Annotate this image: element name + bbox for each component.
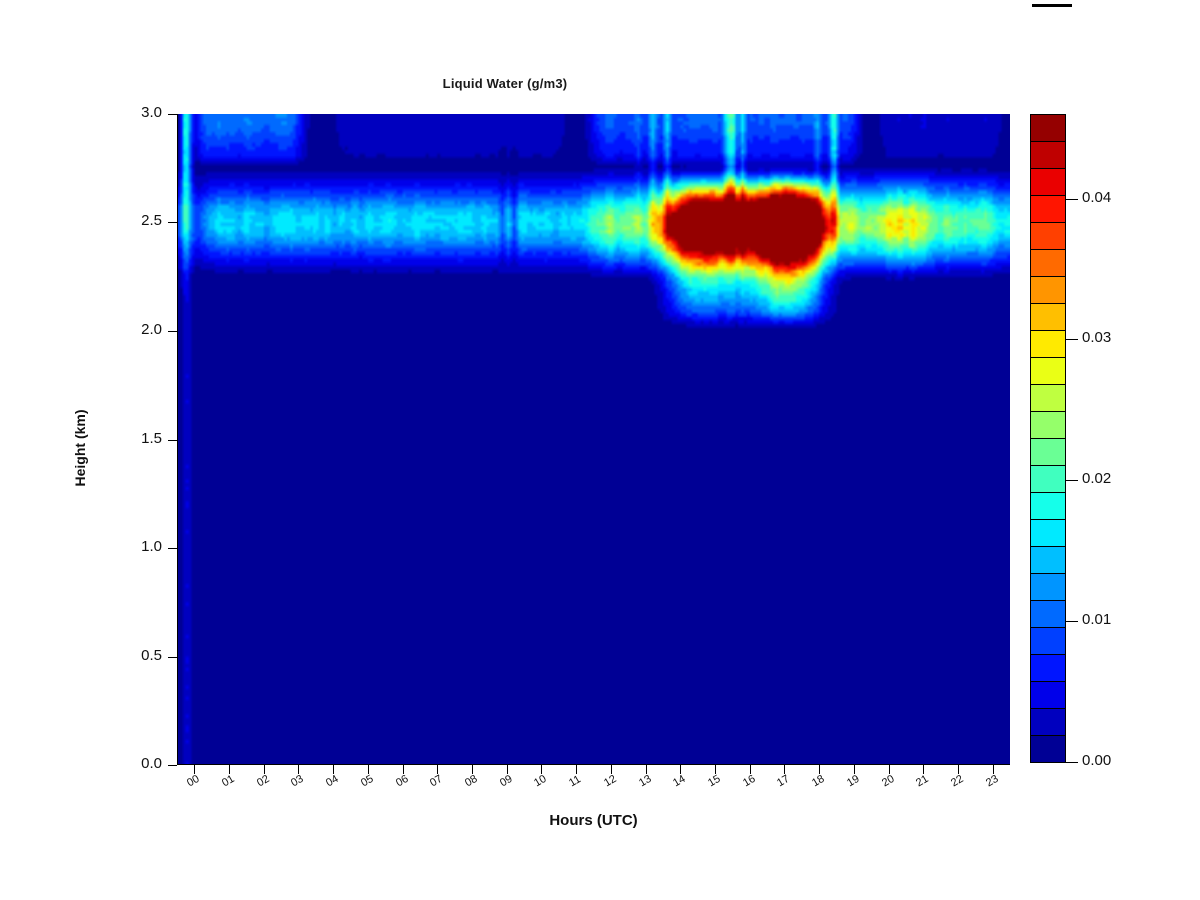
colorbar-tick-mark bbox=[1066, 199, 1078, 200]
colorbar-band bbox=[1030, 384, 1066, 412]
x-tick-label: 08 bbox=[463, 773, 480, 790]
y-tick-mark bbox=[168, 657, 177, 658]
colorbar-band bbox=[1030, 357, 1066, 385]
y-tick-label: 0.5 bbox=[141, 647, 162, 664]
x-tick-label: 02 bbox=[255, 773, 272, 790]
colorbar-tick-label: 0.02 bbox=[1082, 470, 1111, 487]
y-tick-label: 2.5 bbox=[141, 212, 162, 229]
x-tick-label: 10 bbox=[532, 773, 549, 790]
x-tick-label: 03 bbox=[289, 773, 306, 790]
colorbar-band bbox=[1030, 276, 1066, 304]
heatmap-plot-area bbox=[177, 114, 1010, 765]
colorbar-band bbox=[1030, 708, 1066, 736]
colorbar-band bbox=[1030, 330, 1066, 358]
y-tick-mark bbox=[168, 440, 177, 441]
y-tick-mark bbox=[168, 765, 177, 766]
x-tick-label: 04 bbox=[324, 773, 341, 790]
x-axis-title: Hours (UTC) bbox=[177, 812, 1010, 829]
colorbar-tick-label: 0.03 bbox=[1082, 329, 1111, 346]
y-tick-label: 1.5 bbox=[141, 430, 162, 447]
x-tick-label: 12 bbox=[602, 773, 619, 790]
y-tick-mark bbox=[168, 114, 177, 115]
y-tick-mark bbox=[168, 331, 177, 332]
y-tick-mark bbox=[168, 222, 177, 223]
colorbar-band bbox=[1030, 411, 1066, 439]
page-title: Liquid Water (g/m3) bbox=[0, 76, 1010, 91]
x-tick-label: 21 bbox=[914, 773, 931, 790]
colorbar-band bbox=[1030, 465, 1066, 493]
colorbar-band bbox=[1030, 249, 1066, 277]
x-tick-label: 17 bbox=[775, 773, 792, 790]
x-tick-label: 16 bbox=[741, 773, 758, 790]
colorbar-band bbox=[1030, 438, 1066, 466]
colorbar-band bbox=[1030, 546, 1066, 574]
x-tick-label: 14 bbox=[671, 773, 688, 790]
y-tick-label: 0.0 bbox=[141, 755, 162, 772]
x-tick-label: 01 bbox=[220, 773, 237, 790]
colorbar-band bbox=[1030, 654, 1066, 682]
colorbar-band bbox=[1030, 681, 1066, 709]
y-tick-label: 1.0 bbox=[141, 538, 162, 555]
x-tick-label: 20 bbox=[880, 773, 897, 790]
colorbar-tick-label: 0.04 bbox=[1082, 189, 1111, 206]
y-tick-label: 3.0 bbox=[141, 104, 162, 121]
y-tick-mark bbox=[168, 548, 177, 549]
colorbar-tick-mark bbox=[1066, 762, 1078, 763]
y-tick-label: 2.0 bbox=[141, 321, 162, 338]
colorbar-tick-label: 0.00 bbox=[1082, 752, 1111, 769]
colorbar bbox=[1030, 114, 1066, 762]
colorbar-tick-mark bbox=[1066, 339, 1078, 340]
colorbar-band bbox=[1030, 735, 1066, 763]
figure-canvas: Liquid Water (g/m3) Height (km) Hours (U… bbox=[0, 0, 1200, 900]
colorbar-tick-mark bbox=[1066, 621, 1078, 622]
x-tick-label: 18 bbox=[810, 773, 827, 790]
colorbar-band bbox=[1030, 114, 1066, 142]
x-tick-label: 13 bbox=[637, 773, 654, 790]
colorbar-band bbox=[1030, 573, 1066, 601]
colorbar-band bbox=[1030, 303, 1066, 331]
x-tick-label: 05 bbox=[359, 773, 376, 790]
y-axis-title: Height (km) bbox=[72, 358, 88, 538]
x-tick-label: 22 bbox=[949, 773, 966, 790]
x-tick-label: 11 bbox=[567, 773, 583, 789]
colorbar-band bbox=[1030, 141, 1066, 169]
colorbar-tick-mark bbox=[1066, 480, 1078, 481]
corner-artifact-mark bbox=[1032, 4, 1072, 7]
x-tick-label: 00 bbox=[185, 773, 202, 790]
colorbar-band bbox=[1030, 519, 1066, 547]
colorbar-tick-label: 0.01 bbox=[1082, 611, 1111, 628]
colorbar-band bbox=[1030, 222, 1066, 250]
x-tick-label: 15 bbox=[706, 773, 723, 790]
x-tick-label: 06 bbox=[394, 773, 411, 790]
x-tick-label: 09 bbox=[498, 773, 515, 790]
colorbar-band bbox=[1030, 168, 1066, 196]
x-tick-label: 19 bbox=[845, 773, 862, 790]
colorbar-band bbox=[1030, 627, 1066, 655]
x-tick-label: 23 bbox=[984, 773, 1001, 790]
colorbar-band bbox=[1030, 492, 1066, 520]
colorbar-band bbox=[1030, 600, 1066, 628]
heatmap-canvas bbox=[177, 114, 1010, 765]
x-tick-label: 07 bbox=[428, 773, 445, 790]
colorbar-band bbox=[1030, 195, 1066, 223]
